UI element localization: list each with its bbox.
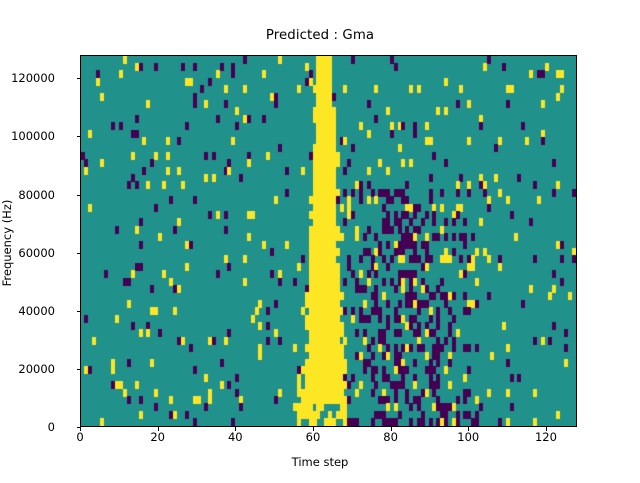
matplotlib-figure: Predicted : Gma Frequency (Hz) Time step… (0, 0, 640, 480)
x-tick-mark (158, 427, 159, 431)
y-tick-label: 40000 (0, 305, 55, 317)
x-tick-label: 120 (516, 431, 576, 444)
y-tick-label: 0 (0, 421, 55, 433)
chart-title: Predicted : Gma (0, 28, 640, 44)
heatmap-image (81, 56, 576, 426)
x-tick-label: 20 (128, 431, 188, 444)
x-tick-label: 60 (283, 431, 343, 444)
x-axis-label: Time step (0, 455, 640, 469)
x-tick-mark (313, 427, 314, 431)
y-tick-label: 60000 (0, 247, 55, 259)
x-tick-mark (80, 427, 81, 431)
y-tick-label: 20000 (0, 363, 55, 375)
y-tick-label: 80000 (0, 189, 55, 201)
x-tick-mark (235, 427, 236, 431)
heatmap-plot-area[interactable] (80, 55, 577, 427)
x-tick-mark (468, 427, 469, 431)
x-tick-label: 40 (205, 431, 265, 444)
y-tick-label: 120000 (0, 72, 55, 84)
x-tick-mark (391, 427, 392, 431)
x-tick-mark (546, 427, 547, 431)
x-tick-label: 80 (361, 431, 421, 444)
y-tick-label: 100000 (0, 130, 55, 142)
x-tick-label: 0 (50, 431, 110, 444)
x-tick-label: 100 (438, 431, 498, 444)
